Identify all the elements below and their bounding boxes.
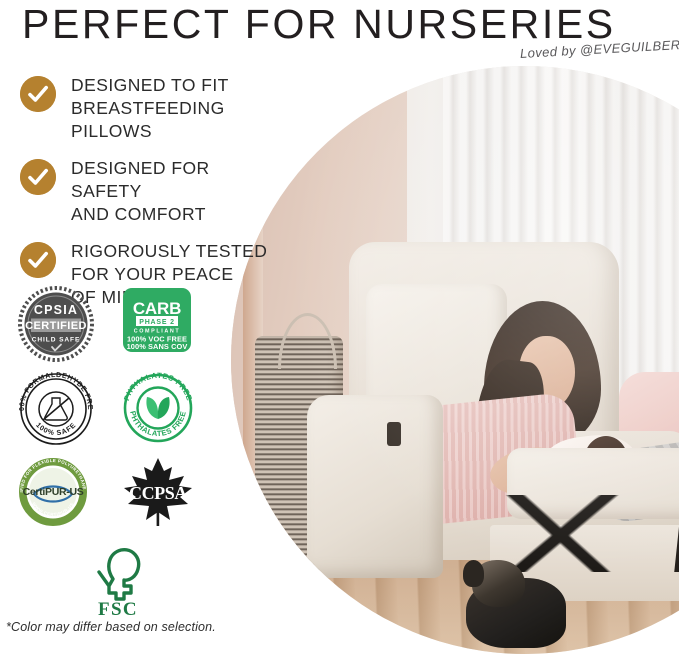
- feature-text-1-line1: DESIGNED TO FIT: [71, 74, 282, 97]
- certification-badges: CPSIA CERTIFIED CHILD SAFE CARB: [14, 284, 222, 624]
- certification-phthalates-free: PHTHALATES FREE PHTHALATES FREE: [118, 369, 222, 447]
- certification-ccpsa: CCPSA: [118, 454, 222, 530]
- certification-cpsia: CPSIA CERTIFIED CHILD SAFE: [14, 284, 118, 366]
- certification-carb: CARB PHASE 2 COMPLIANT 100% VOC FREE 100…: [118, 284, 222, 360]
- feature-text-1-line2: BREASTFEEDING PILLOWS: [71, 97, 282, 143]
- chair-armrest: [307, 395, 442, 577]
- fsc-tree-icon: FSC: [75, 539, 161, 617]
- cpsia-title: CPSIA: [34, 303, 78, 317]
- cpsia-subtitle: CHILD SAFE: [32, 337, 81, 344]
- formaldehyde-free-seal-icon: 100% FORMALDEHYDE FREE 100% SAFE: [14, 369, 98, 449]
- check-icon: [20, 242, 56, 278]
- fsc-title: FSC: [98, 599, 138, 617]
- carb-title: CARB: [133, 299, 181, 318]
- leaf-icon-left: [146, 397, 158, 419]
- marketing-infographic: PERFECT FOR NURSERIES Loved by @EVEGUILB…: [0, 0, 679, 656]
- cpsia-seal-icon: CPSIA CERTIFIED CHILD SAFE: [14, 284, 98, 366]
- carb-phase: PHASE 2: [139, 319, 175, 326]
- certification-row-3: CertiPUR-US CERTIFIED FOR FLEXIBLE POLYU…: [14, 454, 222, 539]
- leaf-icon-right: [158, 397, 170, 419]
- check-icon: [20, 159, 56, 195]
- recliner-mechanism: [496, 495, 625, 571]
- certipur-title: CertiPUR-US: [23, 486, 84, 498]
- certification-fsc: FSC: [14, 539, 222, 617]
- feature-item-2: DESIGNED FOR SAFETY AND COMFORT: [20, 157, 282, 226]
- feature-text-3-line2: FOR YOUR PEACE: [71, 263, 282, 286]
- check-icon: [20, 76, 56, 112]
- certification-row-2: 100% FORMALDEHYDE FREE 100% SAFE: [14, 369, 222, 454]
- ccpsa-maple-leaf-icon: CCPSA: [118, 454, 198, 530]
- carb-line2: 100% SANS COV: [127, 342, 188, 351]
- no-slash-icon: [43, 398, 69, 420]
- cpsia-banner: CERTIFIED: [25, 320, 87, 332]
- color-disclaimer: *Color may differ based on selection.: [6, 620, 216, 634]
- feature-text-2: DESIGNED FOR SAFETY AND COMFORT: [71, 157, 282, 226]
- recliner-knob-icon: [387, 422, 401, 447]
- page-title: PERFECT FOR NURSERIES: [22, 2, 616, 46]
- feature-text-2-line1: DESIGNED FOR SAFETY: [71, 157, 282, 203]
- feature-item-1: DESIGNED TO FIT BREASTFEEDING PILLOWS: [20, 74, 282, 143]
- phthalates-free-seal-icon: PHTHALATES FREE PHTHALATES FREE: [118, 369, 198, 447]
- formaldehyde-arc-top: 100% FORMALDEHYDE FREE: [14, 369, 94, 411]
- feature-text-1: DESIGNED TO FIT BREASTFEEDING PILLOWS: [71, 74, 282, 143]
- certification-row-4: FSC: [14, 539, 222, 624]
- certification-row-1: CPSIA CERTIFIED CHILD SAFE CARB: [14, 284, 222, 369]
- dog-ear: [463, 560, 484, 587]
- photo-scene: [231, 66, 679, 654]
- carb-badge-icon: CARB PHASE 2 COMPLIANT 100% VOC FREE 100…: [118, 284, 196, 360]
- certipur-us-seal-icon: CertiPUR-US CERTIFIED FOR FLEXIBLE POLYU…: [14, 454, 92, 530]
- feature-text-3-line1: RIGOROUSLY TESTED: [71, 240, 282, 263]
- nursery-photo: [231, 66, 679, 654]
- certification-formaldehyde-free: 100% FORMALDEHYDE FREE 100% SAFE: [14, 369, 118, 449]
- feature-text-2-line2: AND COMFORT: [71, 203, 282, 226]
- certification-certipur-us: CertiPUR-US CERTIFIED FOR FLEXIBLE POLYU…: [14, 454, 118, 530]
- ccpsa-title: CCPSA: [129, 483, 187, 503]
